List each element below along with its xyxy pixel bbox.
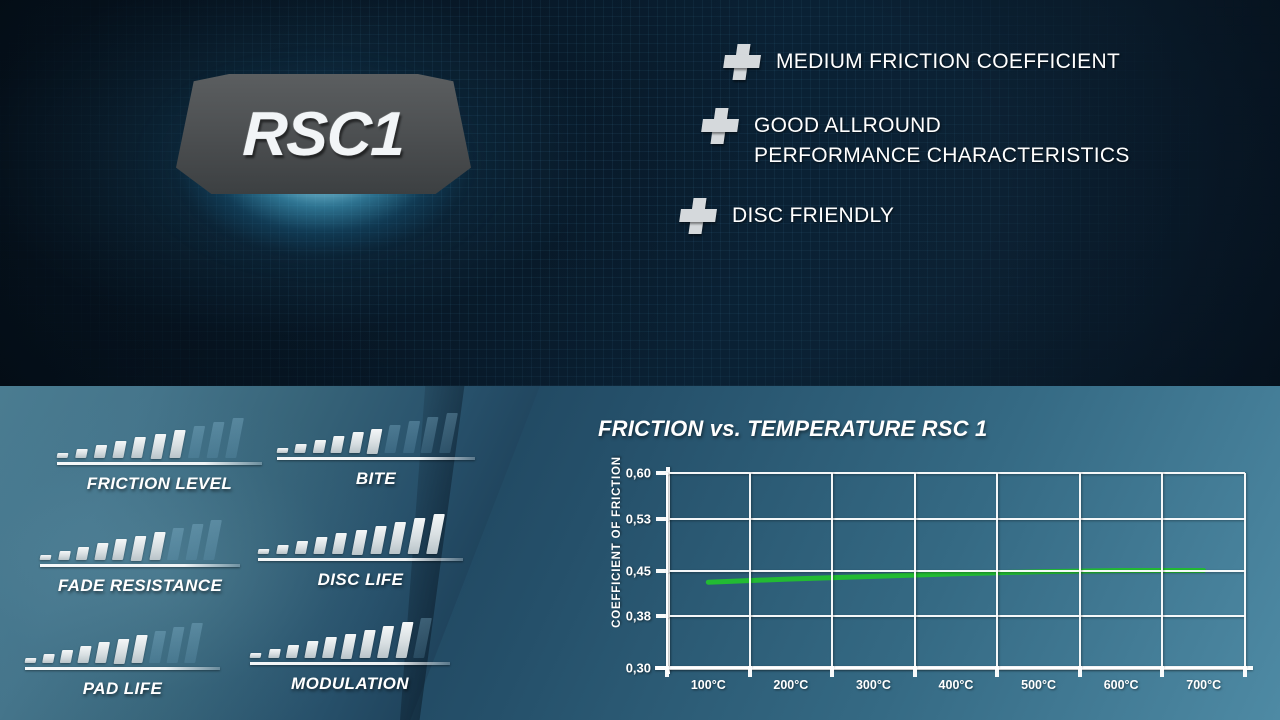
chart-x-tick [1160, 666, 1164, 677]
meter-bar-segment [351, 530, 367, 555]
chart-y-tick-label: 0,38 [626, 609, 651, 624]
meter-bar-segment [349, 432, 364, 453]
chart-title: FRICTION vs. TEMPERATURE RSC 1 [598, 416, 987, 442]
meter-bar-segment [276, 545, 289, 554]
meter-bar-segment [131, 536, 147, 561]
meter-bar-segment [439, 413, 458, 453]
meter-bar-segment [95, 642, 110, 663]
spec-sheet-stage: RSC1 MEDIUM FRICTION COEFFICIENT GOOD AL… [0, 0, 1280, 720]
meter-baseline [57, 462, 262, 465]
product-name: RSC1 [174, 74, 473, 194]
chart-x-tick-label: 100°C [691, 678, 726, 692]
chart-y-tick-label: 0,60 [626, 466, 651, 481]
meter-label: FRICTION LEVEL [57, 474, 262, 494]
meter-friction-level: FRICTION LEVEL [57, 412, 262, 494]
chart-x-tick-label: 400°C [939, 678, 974, 692]
chart-x-tick [913, 666, 917, 677]
chart-plot-area: 0,600,530,450,380,30100°C200°C300°C400°C… [667, 473, 1245, 668]
meter-bar-track [250, 612, 450, 658]
feature-item-1: MEDIUM FRICTION COEFFICIENT [722, 42, 1240, 82]
chart-gridline-vertical [1244, 473, 1246, 668]
meter-bar-segment [166, 627, 184, 663]
chart-x-tick [1243, 666, 1247, 677]
meter-bar-segment [295, 444, 308, 453]
feature-line-2a: GOOD ALLROUND [754, 114, 941, 137]
chart-gridline-vertical [1161, 473, 1163, 668]
meter-bar-segment [112, 539, 127, 560]
meter-bar-segment [203, 520, 222, 560]
meter-bar-segment [304, 641, 318, 658]
meter-bar-segment [413, 618, 432, 658]
meter-pad-life: PAD LIFE [25, 617, 220, 699]
chart-y-axis-label: COEFFICIENT OF FRICTION [611, 442, 623, 642]
chart-gridline-vertical [996, 473, 998, 668]
chart-series-line [708, 571, 1203, 583]
chart-gridline-horizontal [667, 667, 1245, 669]
meter-bar-track [40, 514, 240, 560]
meter-bar-segment [131, 635, 148, 663]
chart-gridline-vertical [749, 473, 751, 668]
plus-icon [675, 196, 721, 236]
meter-bar-segment [341, 634, 357, 659]
meter-label: DISC LIFE [258, 570, 463, 590]
meter-bar-segment [314, 537, 328, 554]
chart-x-tick-label: 300°C [856, 678, 891, 692]
meter-bar-segment [78, 646, 92, 663]
meter-bar-segment [377, 626, 394, 658]
chart-x-tick-label: 700°C [1186, 678, 1221, 692]
meter-bar-segment [131, 437, 146, 458]
feature-line-2b: PERFORMANCE CHARACTERISTICS [754, 141, 1130, 171]
meter-bar-segment [169, 430, 186, 458]
chart-gridline-horizontal [667, 615, 1245, 617]
feature-line-1a: MEDIUM FRICTION COEFFICIENT [776, 50, 1120, 73]
feature-text-1: MEDIUM FRICTION COEFFICIENT [776, 42, 1120, 77]
meter-bar-segment [94, 543, 108, 560]
meter-baseline [277, 457, 475, 460]
chart-gridline-horizontal [667, 472, 1245, 474]
meter-bar-segment [332, 533, 347, 554]
meter-bar-segment [268, 649, 281, 658]
meter-modulation: MODULATION [250, 612, 450, 694]
chart-gridline-vertical [914, 473, 916, 668]
meter-label: BITE [277, 469, 475, 489]
product-hero-panel: RSC1 MEDIUM FRICTION COEFFICIENT GOOD AL… [0, 0, 1280, 386]
meter-bar-segment [313, 440, 326, 453]
plus-icon [697, 106, 743, 146]
chart-y-tick-label: 0,45 [626, 563, 651, 578]
meter-bar-segment [395, 622, 413, 658]
meter-bar-segment [188, 426, 205, 458]
meter-bar-segment [149, 631, 166, 663]
meter-bar-segment [225, 418, 244, 458]
meter-bar-segment [40, 555, 52, 560]
chart-x-tick-label: 500°C [1021, 678, 1056, 692]
meter-bar-segment [113, 441, 127, 458]
meter-label: MODULATION [250, 674, 450, 694]
meter-bar-segment [403, 421, 420, 453]
meter-bar-segment [60, 650, 73, 663]
chart-x-tick [830, 666, 834, 677]
meter-disc-life: DISC LIFE [258, 508, 463, 590]
meter-bar-track [25, 617, 220, 663]
meter-bar-segment [322, 637, 337, 658]
meter-label: PAD LIFE [25, 679, 220, 699]
meter-bar-segment [75, 449, 88, 458]
meter-bar-segment [150, 434, 166, 459]
chart-y-tick-label: 0,30 [626, 661, 651, 676]
meter-bar-segment [149, 532, 166, 560]
meter-bar-segment [113, 639, 129, 664]
chart-gridline-horizontal [667, 518, 1245, 520]
meter-bar-segment [370, 526, 387, 554]
meter-bar-segment [250, 653, 262, 658]
meter-bar-segment [76, 547, 89, 560]
meter-bar-segment [167, 528, 184, 560]
meter-bar-segment [42, 654, 55, 663]
meter-bar-track [258, 508, 463, 554]
meter-bar-segment [421, 417, 439, 453]
feature-text-2: GOOD ALLROUND PERFORMANCE CHARACTERISTIC… [754, 106, 1130, 172]
meter-baseline [250, 662, 450, 665]
chart-x-tick [995, 666, 999, 677]
chart-x-tick-label: 200°C [773, 678, 808, 692]
meter-bar-segment [389, 522, 406, 554]
meter-bar-segment [407, 518, 425, 554]
meter-bar-track [277, 407, 475, 453]
chart-x-tick [1078, 666, 1082, 677]
meter-bar-segment [185, 524, 203, 560]
meter-bar-segment [57, 453, 69, 458]
chart-x-tick [748, 666, 752, 677]
meter-bar-segment [359, 630, 376, 658]
meter-bar-segment [258, 549, 270, 554]
meter-bar-segment [58, 551, 71, 560]
feature-item-3: DISC FRIENDLY [678, 196, 1240, 236]
feature-list: MEDIUM FRICTION COEFFICIENT GOOD ALLROUN… [700, 42, 1240, 260]
meter-baseline [25, 667, 220, 670]
meter-bar-segment [94, 445, 107, 458]
meter-bar-segment [184, 623, 203, 663]
feature-text-3: DISC FRIENDLY [732, 196, 894, 231]
friction-temperature-chart: FRICTION vs. TEMPERATURE RSC 1 COEFFICIE… [560, 386, 1280, 720]
chart-gridline-vertical [666, 473, 668, 668]
meter-bar-segment [286, 645, 299, 658]
meter-bite: BITE [277, 407, 475, 489]
chart-x-tick [665, 666, 669, 677]
chart-x-tick-label: 600°C [1104, 678, 1139, 692]
meter-label: FADE RESISTANCE [40, 576, 240, 596]
meter-fade-resistance: FADE RESISTANCE [40, 514, 240, 596]
feature-line-3a: DISC FRIENDLY [732, 204, 894, 227]
chart-y-tick-label: 0,53 [626, 511, 651, 526]
meter-baseline [40, 564, 240, 567]
chart-gridline-vertical [1079, 473, 1081, 668]
meter-bar-segment [385, 425, 402, 453]
meter-bar-segment [277, 448, 289, 453]
meter-bar-track [57, 412, 262, 458]
brake-pad-graphic: RSC1 [118, 34, 528, 284]
meter-bar-segment [367, 429, 383, 454]
meter-bar-segment [295, 541, 308, 554]
chart-gridline-vertical [831, 473, 833, 668]
plus-icon [719, 42, 765, 82]
meter-bar-segment [25, 658, 37, 663]
feature-item-2: GOOD ALLROUND PERFORMANCE CHARACTERISTIC… [700, 106, 1240, 172]
meter-baseline [258, 558, 463, 561]
meter-bar-segment [331, 436, 345, 453]
meter-bar-segment [206, 422, 224, 458]
chart-gridline-horizontal [667, 570, 1245, 572]
meter-bar-segment [426, 514, 445, 554]
